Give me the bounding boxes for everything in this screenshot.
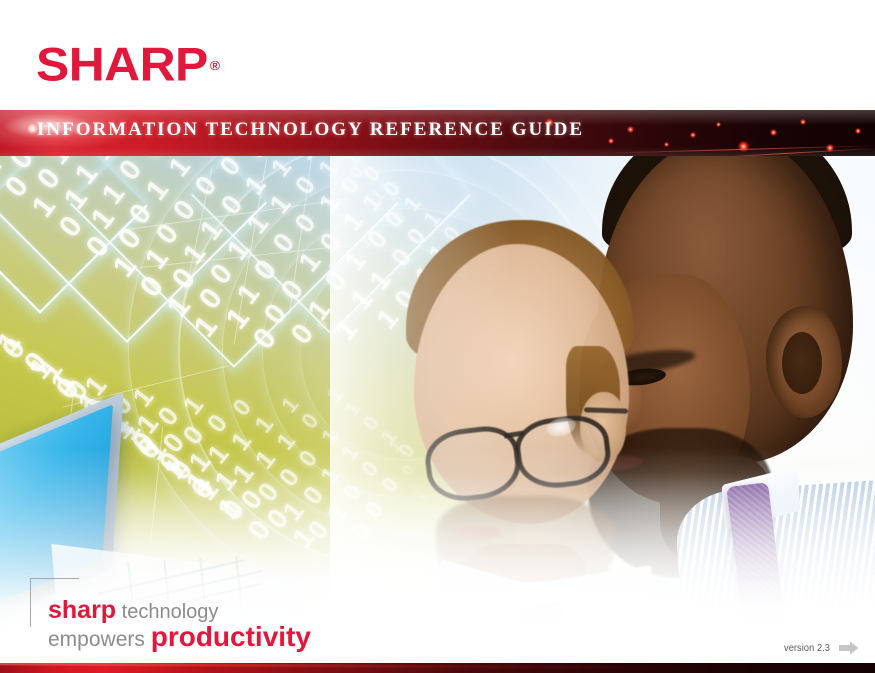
- banner-glow-dot: [826, 144, 834, 152]
- registered-trademark-icon: ®: [210, 58, 220, 73]
- version-label: version 2.3: [784, 643, 830, 654]
- banner-glow-dot: [627, 126, 634, 133]
- person-right-ear-inner: [782, 332, 822, 394]
- sharp-logo-wordmark: SHARP: [36, 38, 208, 91]
- banner-light-streak: [600, 145, 875, 154]
- banner-glow-dot: [608, 138, 614, 144]
- banner-glow-dot: [690, 132, 696, 138]
- banner-glow-dot: [664, 142, 669, 147]
- banner-glow-dot: [738, 141, 749, 152]
- tagline-line-2: empowers productivity: [48, 622, 311, 657]
- person-left-tie: [520, 603, 569, 663]
- page-title: INFORMATION TECHNOLOGY REFERENCE GUIDE: [37, 119, 584, 141]
- banner-glow-dot: [716, 122, 721, 127]
- tagline-empowers: empowers: [48, 628, 145, 651]
- hero-image: 1010010110011010010111001010010101100110…: [0, 156, 875, 663]
- arrow-right-icon[interactable]: [839, 641, 859, 655]
- document-cover-page: SHARP® INFORMATION TECHNOLOGY REFERENCE …: [0, 0, 875, 673]
- people-photo: [330, 156, 875, 663]
- tagline-sharp: sharp: [48, 596, 116, 624]
- banner-bottom-sheen: [0, 147, 875, 156]
- banner-glow-dot: [855, 128, 861, 134]
- banner-glow-dot: [800, 119, 806, 125]
- person-left: [370, 196, 670, 636]
- version-block: version 2.3: [780, 641, 859, 655]
- bottom-accent-strip: [0, 663, 875, 673]
- banner-glow-dot: [770, 129, 777, 136]
- sharp-logo: SHARP®: [36, 36, 218, 88]
- banner-light-streak: [690, 148, 875, 156]
- person-left-lips: [456, 526, 500, 540]
- tagline-productivity: productivity: [151, 621, 311, 652]
- title-banner: INFORMATION TECHNOLOGY REFERENCE GUIDE: [0, 110, 875, 156]
- logo-area: SHARP®: [0, 0, 875, 110]
- bottom-strip-highlight: [0, 663, 875, 671]
- tagline-technology-word: technology: [122, 601, 219, 623]
